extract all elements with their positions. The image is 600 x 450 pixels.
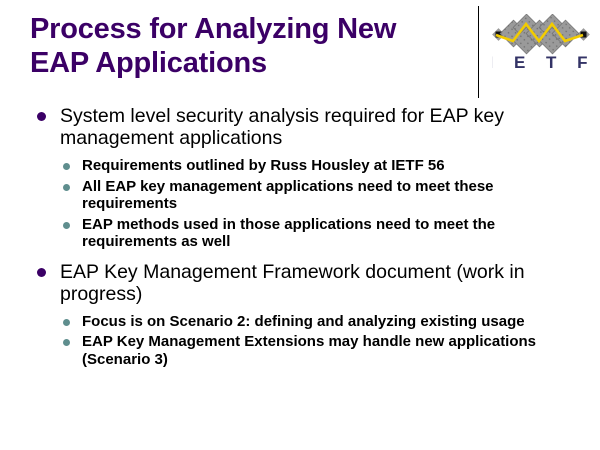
logo-diamonds bbox=[500, 14, 579, 54]
bullet-marker-level2 bbox=[63, 222, 70, 229]
bullet-marker-level2 bbox=[63, 163, 70, 170]
bullet-marker-level2 bbox=[63, 184, 70, 191]
spacer bbox=[0, 305, 600, 313]
slide-header: Process for Analyzing New EAP Applicatio… bbox=[0, 0, 600, 100]
slide-body: System level security analysis required … bbox=[0, 105, 600, 368]
page-title-line-1: Process for Analyzing New bbox=[30, 12, 470, 46]
bullet-level2: All EAP key management applications need… bbox=[0, 178, 600, 213]
bullet-marker-level2 bbox=[63, 339, 70, 346]
bullet-level1-text: EAP Key Management Framework document (w… bbox=[60, 261, 525, 305]
bullet-level2-text: Requirements outlined by Russ Housley at… bbox=[82, 157, 445, 174]
bullet-level2-text: EAP Key Management Extensions may handle… bbox=[82, 333, 536, 368]
bullet-level1: EAP Key Management Framework document (w… bbox=[0, 261, 600, 305]
page-title: Process for Analyzing New EAP Applicatio… bbox=[30, 12, 470, 80]
bullet-level2: EAP methods used in those applications n… bbox=[0, 216, 600, 251]
bullet-level2-text: EAP methods used in those applications n… bbox=[82, 216, 495, 251]
bullet-level2-text: Focus is on Scenario 2: defining and ana… bbox=[82, 313, 525, 330]
bullet-marker-level1 bbox=[37, 112, 46, 121]
bullet-marker-level2 bbox=[63, 319, 70, 326]
logo-endcap-right bbox=[577, 28, 590, 41]
bullet-level2: EAP Key Management Extensions may handle… bbox=[0, 333, 600, 368]
spacer bbox=[0, 251, 600, 261]
bullet-level2-text: All EAP key management applications need… bbox=[82, 178, 494, 213]
spacer bbox=[0, 149, 600, 157]
bullet-level2: Focus is on Scenario 2: defining and ana… bbox=[0, 313, 600, 331]
ietf-logo: I E T F bbox=[492, 14, 592, 80]
bullet-level1: System level security analysis required … bbox=[0, 105, 600, 149]
page-title-line-2: EAP Applications bbox=[30, 46, 470, 80]
logo-letters: I E T F bbox=[492, 53, 592, 72]
header-divider bbox=[478, 6, 479, 98]
bullet-level1-text: System level security analysis required … bbox=[60, 105, 504, 149]
slide: Process for Analyzing New EAP Applicatio… bbox=[0, 0, 600, 450]
bullet-marker-level1 bbox=[37, 268, 46, 277]
bullet-level2: Requirements outlined by Russ Housley at… bbox=[0, 157, 600, 175]
